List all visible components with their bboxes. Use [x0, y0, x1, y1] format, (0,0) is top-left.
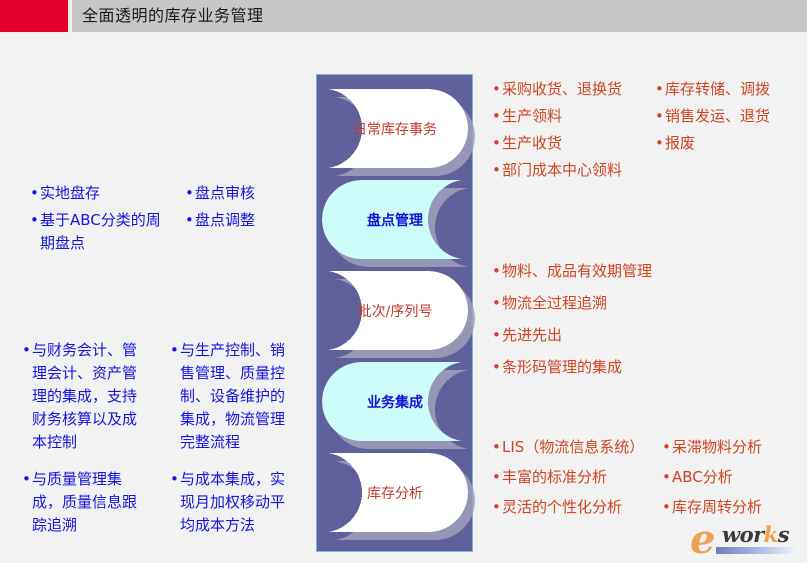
- bullet-item: 先进先出: [492, 324, 722, 347]
- right-group-daily-col1: 采购收货、退换货 生产领料 生产收货 部门成本中心领料: [492, 78, 650, 186]
- bullet-item: 库存周转分析: [662, 496, 807, 519]
- panel-item-business-integration[interactable]: 业务集成: [322, 362, 468, 441]
- logo-word-pre: wor: [722, 522, 764, 547]
- logo-underline-bar: [716, 547, 796, 554]
- bullet-item: 实地盘存: [30, 182, 170, 205]
- bullet-item: 物流全过程追溯: [492, 292, 722, 315]
- logo-e-glyph: e: [690, 516, 715, 563]
- panel-item-label: 批次/序列号: [322, 271, 468, 350]
- bullet-item: 盘点调整: [185, 209, 305, 232]
- left-group-stocktaking-col1: 实地盘存 基于ABC分类的周期盘点: [30, 182, 170, 259]
- bullet-item: 基于ABC分类的周期盘点: [30, 209, 170, 255]
- logo-word-post: s: [778, 522, 789, 547]
- bullet-item: LIS（物流信息系统）: [492, 436, 644, 459]
- panel-item-daily-inventory[interactable]: 日常库存事务: [322, 89, 468, 168]
- bullet-item: 呆滞物料分析: [662, 436, 807, 459]
- logo-wordmark: works: [722, 522, 789, 547]
- logo-word-k: k: [764, 522, 778, 547]
- panel-item-label: 库存分析: [322, 453, 468, 532]
- bullet-item: 灵活的个性化分析: [492, 496, 644, 519]
- panel-item-label: 业务集成: [322, 362, 468, 441]
- header-accent-block: [0, 0, 68, 32]
- bullet-item: 生产领料: [492, 105, 650, 128]
- right-group-daily-col2: 库存转储、调拨 销售发运、退货 报废: [655, 78, 805, 159]
- bullet-item: 与成本集成，实现月加权移动平均成本方法: [170, 468, 292, 537]
- bullet-item: ABC分析: [662, 466, 807, 489]
- panel-item-label: 日常库存事务: [322, 89, 468, 168]
- bullet-item: 物料、成品有效期管理: [492, 260, 722, 283]
- slide-canvas: 全面透明的库存业务管理 日常库存事务 盘点管理 批次/序列号 业务集成 库存分析: [0, 0, 807, 561]
- bullet-item: 与质量管理集成，质量信息跟踪追溯: [22, 468, 144, 537]
- eworks-logo: e works: [690, 519, 802, 559]
- panel-item-batch-serial[interactable]: 批次/序列号: [322, 271, 468, 350]
- panel-item-label: 盘点管理: [322, 180, 468, 259]
- center-panel: 日常库存事务 盘点管理 批次/序列号 业务集成 库存分析: [316, 74, 473, 552]
- bullet-item: 生产收货: [492, 132, 650, 155]
- bullet-item: 销售发运、退货: [655, 105, 805, 128]
- bullet-item: 与生产控制、销售管理、质量控制、设备维护的集成，物流管理完整流程: [170, 339, 292, 454]
- bullet-item: 部门成本中心领料: [492, 159, 650, 182]
- panel-item-inventory-analysis[interactable]: 库存分析: [322, 453, 468, 532]
- right-group-analysis-col2: 呆滞物料分析 ABC分析 库存周转分析: [662, 436, 807, 523]
- left-group-integration-col1: 与财务会计、管理会计、资产管理的集成，支持财务核算以及成本控制 与质量管理集成，…: [22, 339, 144, 541]
- panel-item-stocktaking[interactable]: 盘点管理: [322, 180, 468, 259]
- bullet-item: 库存转储、调拨: [655, 78, 805, 101]
- bullet-item: 盘点审核: [185, 182, 305, 205]
- bullet-item: 与财务会计、管理会计、资产管理的集成，支持财务核算以及成本控制: [22, 339, 144, 454]
- bullet-item: 报废: [655, 132, 805, 155]
- bullet-item: 条形码管理的集成: [492, 356, 722, 379]
- right-group-batch-col1: 物料、成品有效期管理 物流全过程追溯 先进先出 条形码管理的集成: [492, 260, 722, 383]
- left-group-integration-col2: 与生产控制、销售管理、质量控制、设备维护的集成，物流管理完整流程 与成本集成，实…: [170, 339, 292, 541]
- bullet-item: 采购收货、退换货: [492, 78, 650, 101]
- bullet-item: 丰富的标准分析: [492, 466, 644, 489]
- right-group-analysis-col1: LIS（物流信息系统） 丰富的标准分析 灵活的个性化分析: [492, 436, 644, 523]
- page-title: 全面透明的库存业务管理: [82, 0, 264, 32]
- left-group-stocktaking-col2: 盘点审核 盘点调整: [185, 182, 305, 236]
